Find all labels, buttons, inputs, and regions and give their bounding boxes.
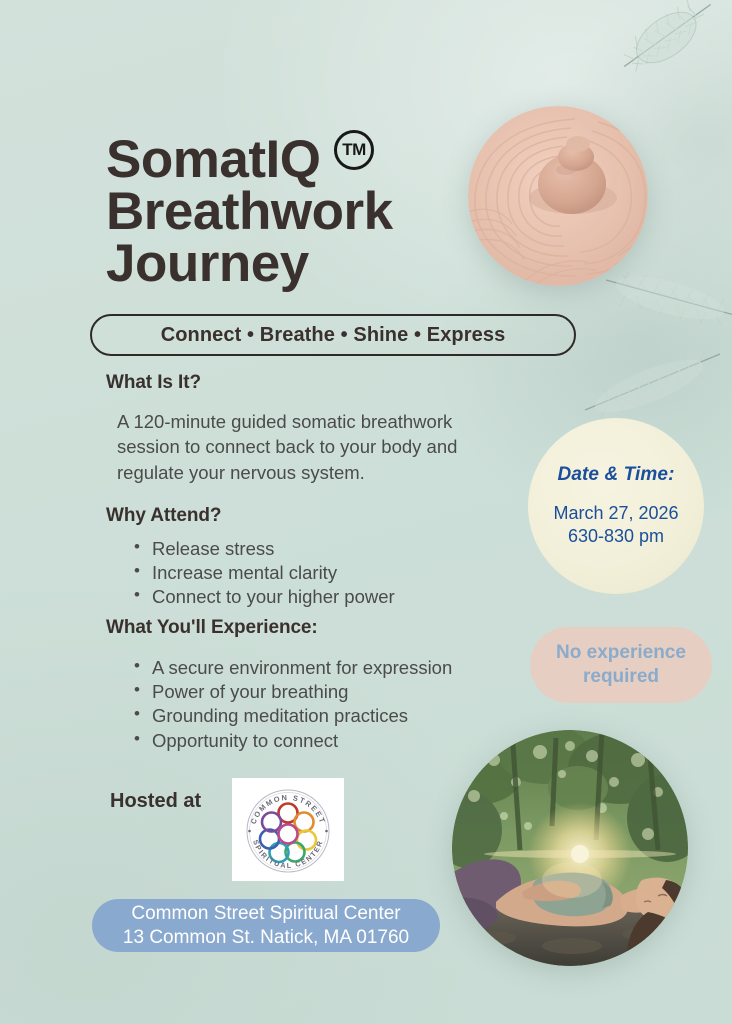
address-line-2: 13 Common St. Natick, MA 01760	[123, 926, 409, 949]
date-value: March 27, 2026	[553, 502, 678, 525]
trademark-icon: TM	[334, 130, 374, 170]
title-line-1: SomatIQ	[106, 134, 506, 186]
list-item: Release stress	[130, 537, 510, 561]
no-experience-line-2: required	[583, 666, 659, 687]
why-attend-list: Release stress Increase mental clarity C…	[130, 537, 510, 610]
venue-address-badge: Common Street Spiritual Center 13 Common…	[92, 899, 440, 952]
list-item: Connect to your higher power	[130, 585, 510, 609]
section-body-what-is-it: A 120-minute guided somatic breathwork s…	[117, 409, 517, 485]
section-heading-what-is-it: What Is It?	[106, 372, 201, 394]
person-lying-outdoors-photo	[452, 730, 688, 966]
tagline-banner: Connect • Breathe • Shine • Express	[90, 314, 576, 356]
no-experience-badge: No experience required	[530, 627, 712, 703]
date-time-badge: Date & Time: March 27, 2026 630-830 pm	[528, 418, 704, 594]
common-street-spiritual-center-logo: COMMON STREET SPIRITUAL CENTER	[232, 778, 344, 881]
title-line-3: Journey	[106, 238, 506, 290]
time-value: 630-830 pm	[568, 525, 664, 548]
section-heading-why-attend: Why Attend?	[106, 505, 221, 527]
poster: SomatIQ Breathwork Journey TM Connect • …	[0, 0, 732, 1024]
title-line-2: Breathwork	[106, 186, 506, 238]
experience-list: A secure environment for expression Powe…	[130, 656, 530, 753]
poster-title: SomatIQ Breathwork Journey TM	[106, 134, 506, 290]
list-item: Opportunity to connect	[130, 729, 530, 753]
list-item: A secure environment for expression	[130, 656, 530, 680]
list-item: Grounding meditation practices	[130, 704, 530, 728]
address-line-1: Common Street Spiritual Center	[131, 902, 400, 925]
hosted-at-label: Hosted at	[110, 790, 201, 813]
list-item: Power of your breathing	[130, 680, 530, 704]
section-heading-experience: What You'll Experience:	[106, 617, 318, 639]
list-item: Increase mental clarity	[130, 561, 510, 585]
date-time-label: Date & Time:	[558, 464, 675, 486]
no-experience-line-1: No experience	[556, 642, 686, 663]
